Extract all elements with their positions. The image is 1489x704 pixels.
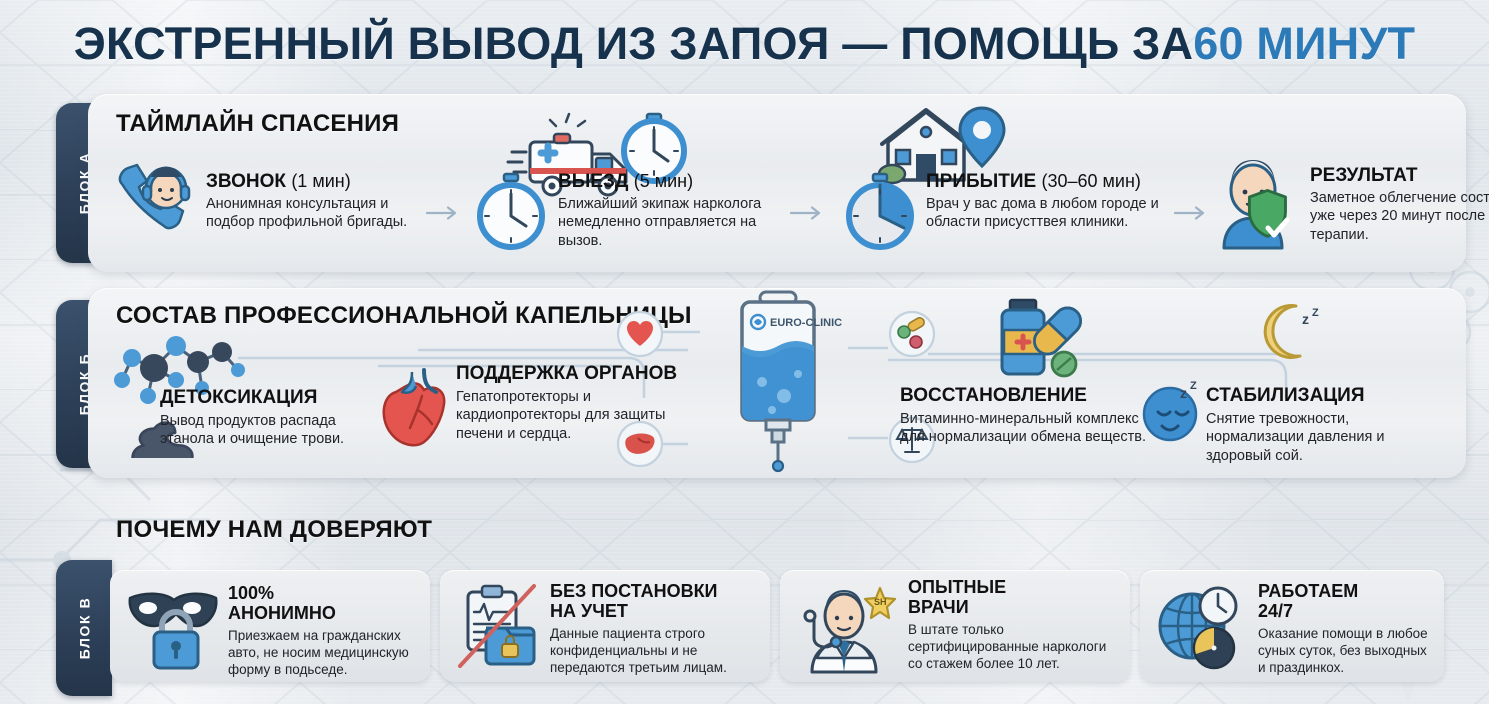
block-a-step-2-text: ВЫЕЗД (5 мин) Ближайший экипаж нарколога… [558, 172, 788, 251]
trust-card-4-desc: Оказание помощи в любое суных суток, без… [1258, 625, 1438, 677]
arrow-icon-2 [790, 206, 824, 225]
mask-lock-icon [124, 584, 220, 672]
block-c-panel: ПОЧЕМУ НАМ ДОВЕРЯЮТ 100% АНОНИМНО Приезж… [88, 500, 1466, 696]
block-a-step-1-desc: Анонимная консультация и подбор профильн… [206, 195, 421, 232]
block-a-step-1-text: ЗВОНОК (1 мин) Анонимная консультация и … [206, 172, 421, 232]
block-b-item-4-heading: СТАБИЛИЗАЦИЯ [1206, 386, 1436, 407]
trust-card-1-desc: Приезжаем на гражданских авто, не носим … [228, 627, 420, 679]
trust-card-2-desc: Данные пациента строго конфиденциальны и… [550, 625, 762, 677]
block-a-panel: ТАЙМЛАЙН СПАСЕНИЯ ЗВОНОК (1 мин) Анонимн… [88, 94, 1466, 272]
block-a-step-3-desc: Врач у вас дома в любом городе и области… [926, 195, 1176, 232]
block-a-step-4-heading: РЕЗУЛЬТАТ [1310, 166, 1489, 186]
block-b-item-1-text: ДЕТОКСИКАЦИЯ Вывод продуктов распада эта… [160, 388, 370, 449]
block-b-panel: СОСТАВ ПРОФЕССИОНАЛЬНОЙ КАПЕЛЬНИЦЫ [88, 288, 1466, 478]
block-a-step-2-desc: Ближайший экипаж нарколога немедленно от… [558, 195, 788, 251]
trust-card-1-heading: 100% АНОНИМНО [228, 584, 420, 624]
trust-card-anonymous: 100% АНОНИМНО Приезжаем на гражданских а… [110, 570, 430, 682]
heart-icon [378, 366, 458, 448]
block-a-step-4-desc: Заметное облегчение состояняя уже через … [1310, 189, 1489, 245]
patient-shield-icon [1210, 152, 1306, 252]
block-b-item-3-heading: ВОССТАНОВЛЕНИЕ [900, 386, 1150, 407]
svg-text:z: z [1302, 311, 1309, 327]
heart-node-icon [616, 310, 664, 358]
vitamin-bottle-icon [988, 296, 1108, 386]
svg-text:z: z [1180, 385, 1187, 401]
arrow-icon-3 [1174, 206, 1208, 225]
liver-node-icon [616, 420, 664, 468]
sleeping-face-icon: z Z [1138, 372, 1212, 444]
block-a-step-3-text: ПРИБЫТИЕ (30–60 мин) Врач у вас дома в л… [926, 172, 1176, 232]
arrow-icon-1 [426, 206, 460, 225]
block-a-step-4-text: РЕЗУЛЬТАТ Заметное облегчение состояняя … [1310, 166, 1489, 245]
block-b-item-1-heading: ДЕТОКСИКАЦИЯ [160, 388, 370, 409]
trust-card-3-desc: В штате только сертифицированные нарколо… [908, 621, 1122, 673]
block-a-heading: ТАЙМЛАЙН СПАСЕНИЯ [116, 110, 399, 138]
svg-text:Z: Z [1190, 380, 1197, 392]
block-b-item-2-heading: ПОДДЕРЖКА ОРГАНОВ [456, 364, 681, 385]
moon-icon: z Z [1256, 302, 1328, 364]
block-a-step-2-heading: ВЫЕЗД (5 мин) [558, 172, 788, 192]
block-c-heading: ПОЧЕМУ НАМ ДОВЕРЯЮТ [116, 516, 432, 544]
block-b-item-1-desc: Вывод продуктов распада этанола и очищен… [160, 412, 370, 449]
globe-clock-icon [1152, 580, 1250, 674]
page-title-highlight: 60 МИНУТ [1193, 18, 1415, 70]
svg-text:SH: SH [874, 597, 887, 607]
block-b-item-4-desc: Снятие тревожности, нормализации давлени… [1206, 410, 1436, 466]
block-b-item-4-text: СТАБИЛИЗАЦИЯ Снятие тревожности, нормали… [1206, 386, 1436, 465]
page-title: ЭКСТРЕННЫЙ ВЫВОД ИЗ ЗАПОЯ — ПОМОЩЬ ЗА 60… [0, 8, 1489, 80]
block-a-step-3-heading: ПРИБЫТИЕ (30–60 мин) [926, 172, 1176, 192]
trust-card-doctors: SH ОПЫТНЫЕ ВРАЧИ В штате только сертифиц… [780, 570, 1130, 682]
page-title-main: ЭКСТРЕННЫЙ ВЫВОД ИЗ ЗАПОЯ — ПОМОЩЬ ЗА [74, 18, 1193, 70]
trust-card-247: РАБОТАЕМ 24/7 Оказание помощи в любое су… [1140, 570, 1444, 682]
block-a-step-1-heading: ЗВОНОК (1 мин) [206, 172, 421, 192]
block-b-item-3-text: ВОССТАНОВЛЕНИЕ Витаминно-минеральный ком… [900, 386, 1150, 447]
block-b-item-3-desc: Витаминно-минеральный комплекс для норма… [900, 410, 1150, 447]
iv-bag-label: EURO-CLINIC [770, 317, 842, 329]
trust-card-no-record: БЕЗ ПОСТАНОВКИ НА УЧЕТ Данные пациента с… [440, 570, 770, 682]
svg-text:Z: Z [1312, 307, 1319, 319]
iv-drip-bag-icon: EURO-CLINIC [688, 278, 868, 478]
stopwatch-icon-3 [840, 172, 920, 252]
stopwatch-icon-2 [471, 172, 551, 252]
trust-card-2-heading: БЕЗ ПОСТАНОВКИ НА УЧЕТ [550, 582, 762, 622]
pills-node-icon [888, 310, 936, 358]
phone-headset-icon [110, 158, 196, 244]
trust-card-4-heading: РАБОТАЕМ 24/7 [1258, 582, 1438, 622]
no-record-icon [452, 582, 542, 672]
trust-card-3-heading: ОПЫТНЫЕ ВРАЧИ [908, 578, 1122, 618]
doctor-star-icon: SH [790, 580, 900, 676]
